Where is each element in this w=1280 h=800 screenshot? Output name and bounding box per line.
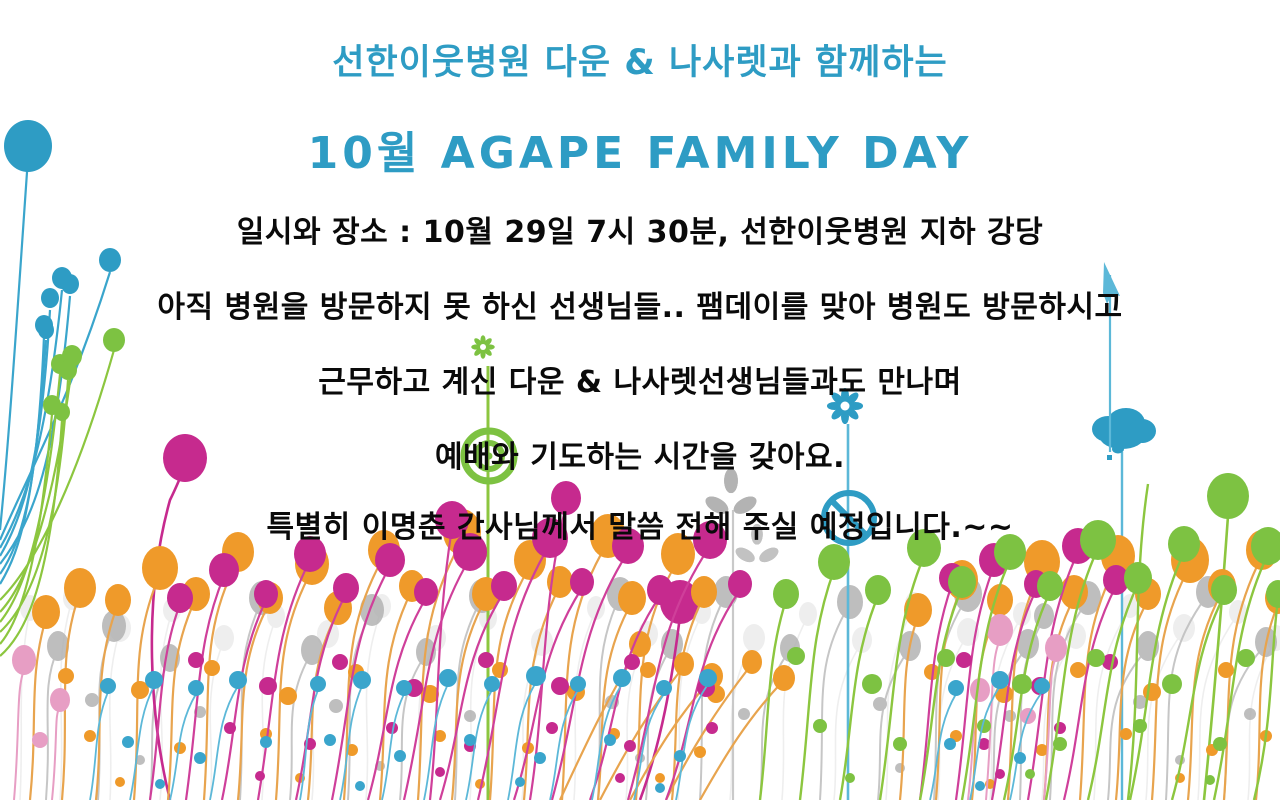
poster-invite-line-2: 근무하고 계신 다운 & 나사렛선생님들과도 만나며	[0, 357, 1280, 401]
poster-host-line: 선한이웃병원 다운 & 나사렛과 함께하는	[0, 34, 1280, 85]
poster-title: 10월 AGAPE FAMILY DAY	[0, 117, 1280, 181]
poster-invite-line-1: 아직 병원을 방문하지 못 하신 선생님들.. 팸데이를 맞아 병원도 방문하시…	[0, 282, 1280, 326]
poster-invite-line-3: 예배와 기도하는 시간을 갖아요.	[0, 432, 1280, 476]
poster-speaker-line: 특별히 이명춘 간사님께서 말씀 전해 주실 예정입니다.~~	[0, 502, 1280, 546]
poster-text-layer: 선한이웃병원 다운 & 나사렛과 함께하는 10월 AGAPE FAMILY D…	[0, 0, 1280, 800]
poster-canvas: 선한이웃병원 다운 & 나사렛과 함께하는 10월 AGAPE FAMILY D…	[0, 0, 1280, 800]
poster-when-where: 일시와 장소 : 10월 29일 7시 30분, 선한이웃병원 지하 강당	[0, 207, 1280, 251]
